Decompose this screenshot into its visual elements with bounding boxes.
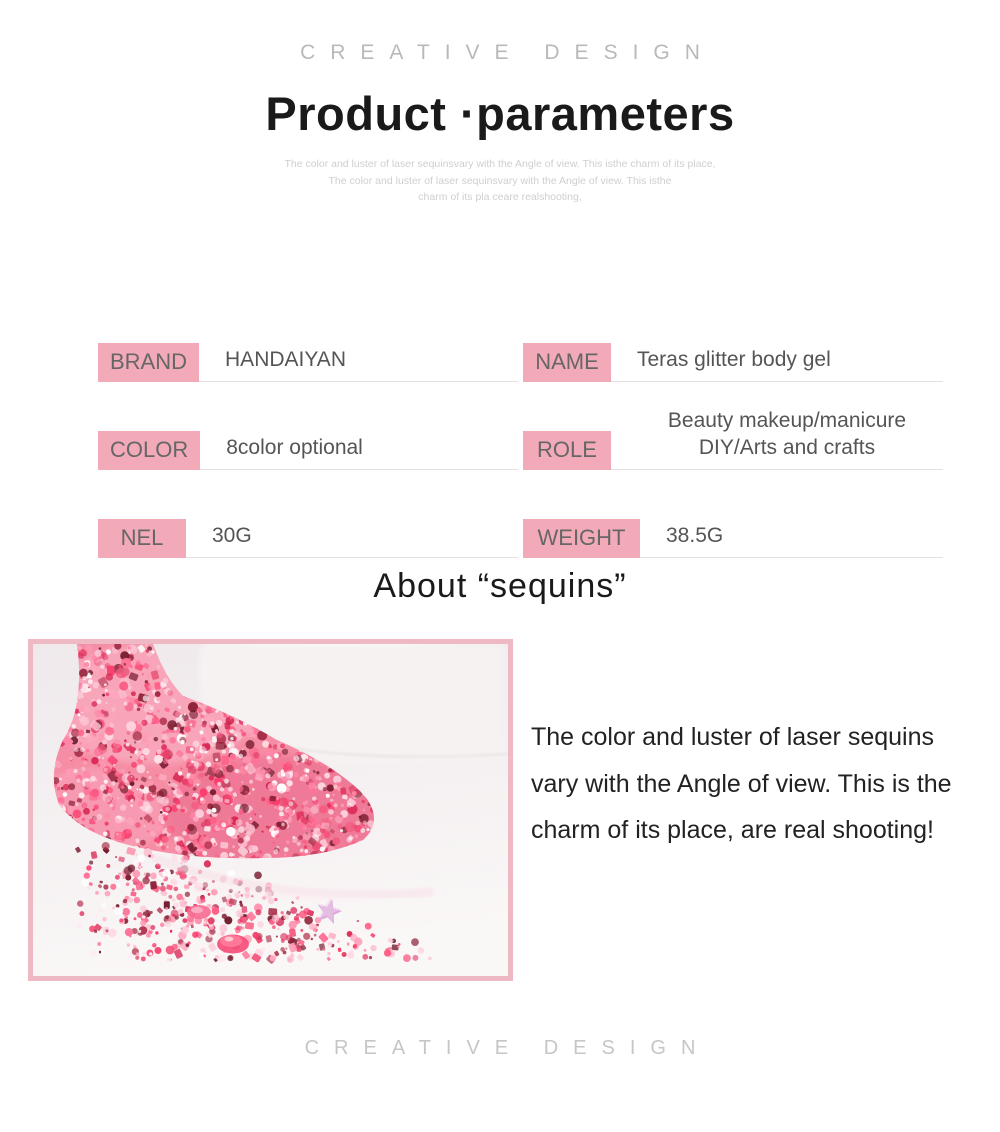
pink-glitter-gel-photo bbox=[33, 644, 508, 976]
product-photo-frame bbox=[28, 639, 513, 981]
header-eyebrow: CREATIVE DESIGN bbox=[0, 42, 1000, 63]
parameter-value-field-name: Teras glitter body gel bbox=[611, 347, 943, 382]
parameter-row-color: COLOR 8color optional bbox=[98, 382, 518, 470]
parameter-value-field-color: 8color optional bbox=[200, 435, 518, 470]
header-subtitle: The color and luster of laser sequinsvar… bbox=[0, 156, 1000, 205]
about-paragraph: The color and luster of laser sequins va… bbox=[531, 714, 986, 854]
parameter-value-field-brand: HANDAIYAN bbox=[199, 347, 518, 382]
parameter-row-weight: WEIGHT 38.5G bbox=[523, 470, 943, 558]
parameter-label-color: COLOR bbox=[98, 431, 200, 470]
parameter-value-weight: 38.5G bbox=[666, 523, 943, 550]
parameter-value-field-weight: 38.5G bbox=[640, 523, 943, 558]
parameter-value-field-role: Beauty makeup/manicure DIY/Arts and craf… bbox=[611, 408, 943, 470]
parameter-value-nel: 30G bbox=[212, 523, 518, 550]
parameter-label-role: ROLE bbox=[523, 431, 611, 470]
parameter-row-name: NAME Teras glitter body gel bbox=[523, 294, 943, 382]
parameter-value-field-nel: 30G bbox=[186, 523, 518, 558]
parameter-row-brand: BRAND HANDAIYAN bbox=[98, 294, 518, 382]
subtitle-line: The color and luster of laser sequinsvar… bbox=[0, 156, 1000, 172]
parameters-column-right: NAME Teras glitter body gel ROLE Beauty … bbox=[523, 294, 943, 558]
footer-eyebrow: CREATIVE DESIGN bbox=[0, 1038, 1000, 1058]
page-title: Product ·parameters bbox=[0, 89, 1000, 138]
parameter-label-name: NAME bbox=[523, 343, 611, 382]
subtitle-line: charm of its pla ceare realshooting, bbox=[0, 189, 1000, 205]
parameter-row-role: ROLE Beauty makeup/manicure DIY/Arts and… bbox=[523, 382, 943, 470]
parameter-label-nel: NEL bbox=[98, 519, 186, 558]
parameter-value-role: Beauty makeup/manicure DIY/Arts and craf… bbox=[637, 408, 943, 462]
parameter-label-weight: WEIGHT bbox=[523, 519, 640, 558]
parameter-value-color: 8color optional bbox=[226, 435, 518, 462]
parameter-value-brand: HANDAIYAN bbox=[225, 347, 518, 374]
parameter-row-nel: NEL 30G bbox=[98, 470, 518, 558]
subtitle-line: The color and luster of laser sequinsvar… bbox=[0, 173, 1000, 189]
parameter-label-brand: BRAND bbox=[98, 343, 199, 382]
parameters-column-left: BRAND HANDAIYAN COLOR 8color optional NE… bbox=[98, 294, 518, 558]
about-section-heading: About “sequins” bbox=[0, 567, 1000, 606]
parameter-value-name: Teras glitter body gel bbox=[637, 347, 943, 374]
